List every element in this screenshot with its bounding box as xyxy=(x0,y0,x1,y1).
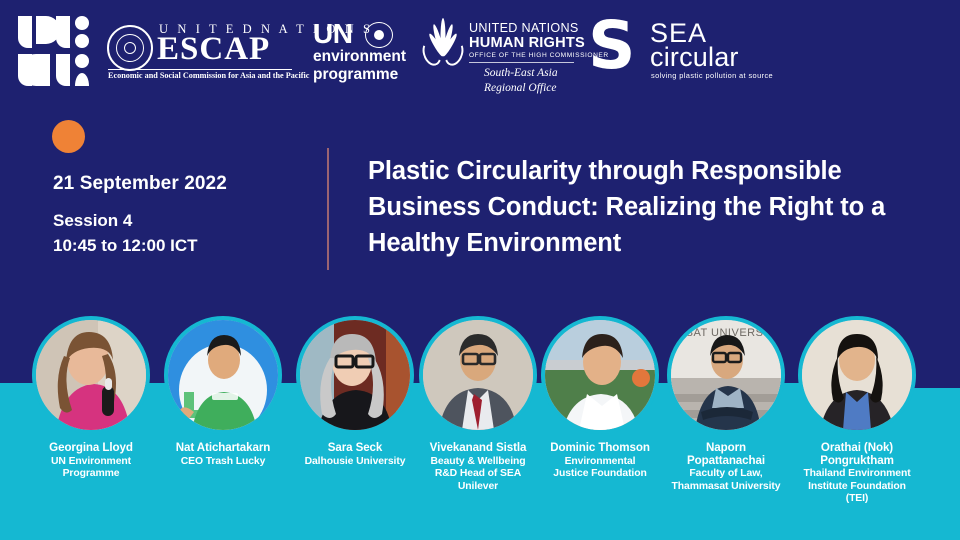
abstract-block-mark-icon xyxy=(18,14,92,88)
speaker-name: Vivekanand Sistla xyxy=(416,442,540,455)
avatar xyxy=(419,316,537,434)
speaker-card: Vivekanand Sistla Beauty & Wellbeing R&D… xyxy=(416,316,540,493)
logo-bar: U N I T E D N A T I O N S ESCAP Economic… xyxy=(0,0,960,105)
unep-environment-text: environment xyxy=(313,48,406,66)
avatar xyxy=(296,316,414,434)
escap-tagline: Economic and Social Commission for Asia … xyxy=(108,71,293,80)
speaker-card: Dominic Thomson Environmental Justice Fo… xyxy=(538,316,662,481)
speaker-affiliation: Faculty of Law, Thammasat University xyxy=(664,468,788,493)
speaker-caption: Vivekanand Sistla Beauty & Wellbeing R&D… xyxy=(416,442,540,493)
un-environment-programme-logo: UN environment programme xyxy=(313,20,413,86)
speaker-name: Sara Seck xyxy=(293,442,417,455)
escap-rule xyxy=(108,69,292,70)
orange-dot-decoration xyxy=(52,120,85,153)
avatar: ASAT UNIVERSIT xyxy=(667,316,785,434)
avatar xyxy=(164,316,282,434)
speaker-caption: Georgina Lloyd UN Environment Programme xyxy=(29,442,153,481)
speaker-card: ASAT UNIVERSIT Naporn Popattanachai Facu… xyxy=(664,316,788,493)
vertical-divider xyxy=(327,148,329,270)
un-escap-logo: U N I T E D N A T I O N S ESCAP Economic… xyxy=(107,19,293,85)
un-human-rights-logo: UNITED NATIONS HUMAN RIGHTS OFFICE OF TH… xyxy=(422,14,582,92)
sea-circular-logo: S SEA circular solving plastic pollution… xyxy=(588,14,748,88)
speaker-affiliation: Dalhousie University xyxy=(293,456,417,469)
speaker-affiliation: Beauty & Wellbeing R&D Head of SEA Unile… xyxy=(416,456,540,494)
avatar xyxy=(541,316,659,434)
avatar xyxy=(32,316,150,434)
speaker-name: Nat Atichartakarn xyxy=(161,442,285,455)
unep-un-text: UN xyxy=(313,20,352,48)
session-label: Session 4 xyxy=(53,211,132,231)
speaker-caption: Nat Atichartakarn CEO Trash Lucky xyxy=(161,442,285,468)
speaker-name: Orathai (Nok) Pongruktham xyxy=(795,442,919,467)
sea-circular-mark-icon: S xyxy=(588,16,644,80)
speaker-name: Georgina Lloyd xyxy=(29,442,153,455)
speaker-name: Dominic Thomson xyxy=(538,442,662,455)
speaker-affiliation: Environmental Justice Foundation xyxy=(538,456,662,481)
speaker-caption: Dominic Thomson Environmental Justice Fo… xyxy=(538,442,662,481)
speaker-card: Nat Atichartakarn CEO Trash Lucky xyxy=(161,316,285,468)
ohchr-rule xyxy=(469,62,574,63)
unep-emblem-icon xyxy=(365,22,393,48)
speaker-caption: Naporn Popattanachai Faculty of Law, Tha… xyxy=(664,442,788,493)
event-date: 21 September 2022 xyxy=(53,173,227,195)
unep-programme-text: programme xyxy=(313,66,398,84)
speaker-affiliation: Thailand Environment Institute Foundatio… xyxy=(795,468,919,506)
sea-tagline: solving plastic pollution at source xyxy=(651,71,773,80)
speaker-card: Sara Seck Dalhousie University xyxy=(293,316,417,468)
session-time: 10:45 to 12:00 ICT xyxy=(53,236,198,256)
ohchr-flame-icon xyxy=(422,20,464,66)
presentation-slide: U N I T E D N A T I O N S ESCAP Economic… xyxy=(0,0,960,540)
escap-wordmark: ESCAP xyxy=(157,33,270,66)
circular-text: circular xyxy=(650,44,739,71)
ohchr-human-rights-text: HUMAN RIGHTS xyxy=(469,35,585,51)
speaker-row: Georgina Lloyd UN Environment Programme xyxy=(0,316,960,540)
speaker-affiliation: UN Environment Programme xyxy=(29,456,153,481)
ohchr-region-text: South-East AsiaRegional Office xyxy=(484,66,558,95)
speaker-affiliation: CEO Trash Lucky xyxy=(161,456,285,469)
speaker-caption: Orathai (Nok) Pongruktham Thailand Envir… xyxy=(795,442,919,506)
speaker-card: Georgina Lloyd UN Environment Programme xyxy=(29,316,153,481)
speaker-name: Naporn Popattanachai xyxy=(664,442,788,467)
speaker-card: Orathai (Nok) Pongruktham Thailand Envir… xyxy=(795,316,919,506)
avatar xyxy=(798,316,916,434)
page-title: Plastic Circularity through Responsible … xyxy=(368,153,913,261)
un-emblem-icon xyxy=(107,25,153,71)
ohchr-united-nations-text: UNITED NATIONS xyxy=(469,21,579,35)
speaker-caption: Sara Seck Dalhousie University xyxy=(293,442,417,468)
